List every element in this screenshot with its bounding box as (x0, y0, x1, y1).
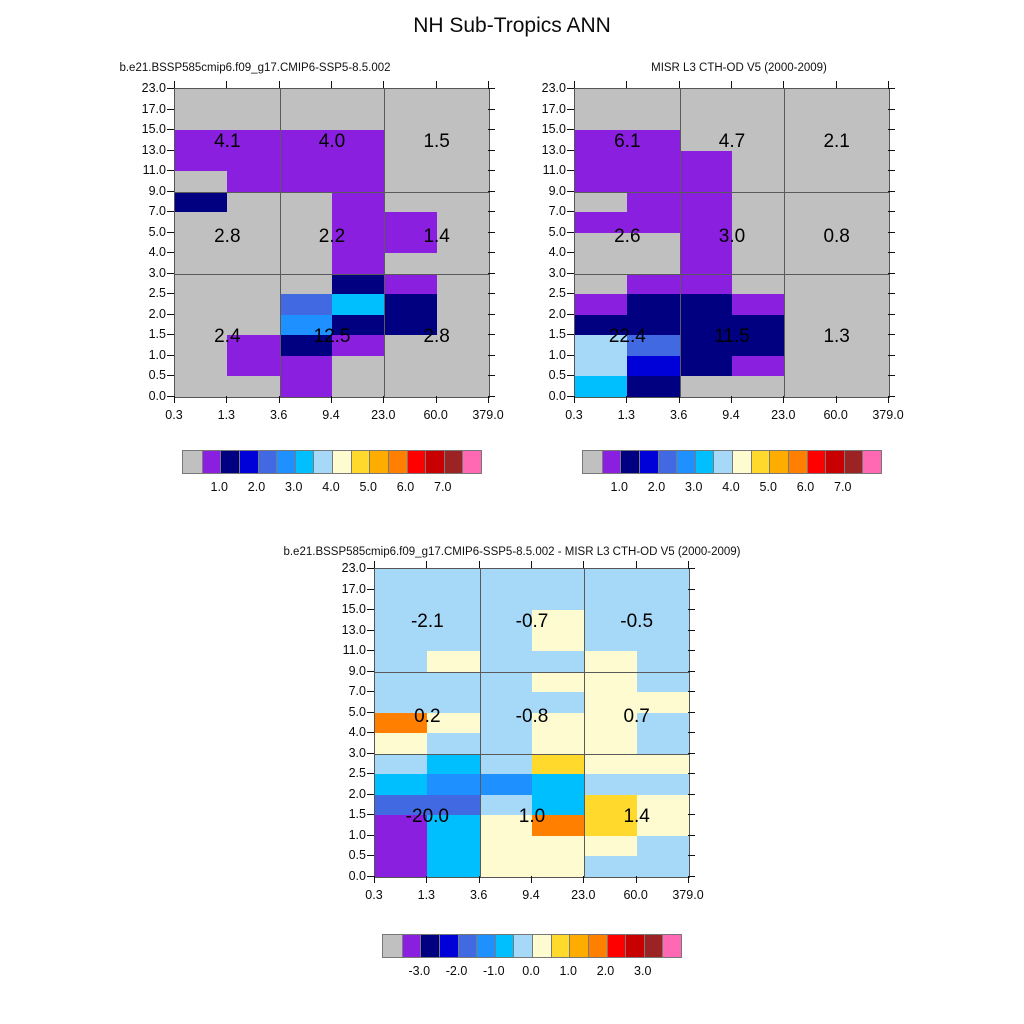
heatmap-cell (837, 89, 890, 110)
heatmap-cell (575, 376, 628, 397)
y-axis-tick (367, 609, 374, 610)
heatmap-cell (784, 274, 837, 295)
y-axis-tick-label: 23.0 (522, 81, 566, 95)
heatmap-cell (637, 733, 690, 754)
colorbar-swatch (644, 935, 663, 957)
region-divider-vertical (280, 89, 281, 397)
y-axis-tick-label: 11.0 (322, 643, 366, 657)
heatmap-cell (375, 856, 428, 877)
heatmap-cell (332, 294, 385, 315)
y-axis-tick-right (688, 732, 695, 733)
colorbar-swatch (183, 451, 202, 473)
heatmap-cell (784, 356, 837, 377)
colorbar-divider (202, 451, 203, 473)
heatmap-cell (532, 631, 585, 652)
y-axis-tick-label: 3.0 (522, 266, 566, 280)
region-divider-horizontal (575, 274, 889, 275)
heatmap-cell (384, 253, 437, 274)
colorbar-model (182, 450, 482, 474)
heatmap-cell (332, 171, 385, 192)
heatmap-cell (437, 89, 490, 110)
colorbar-tick-label: 7.0 (434, 480, 451, 494)
heatmap-cell (427, 774, 480, 795)
y-axis-tick (567, 334, 574, 335)
y-axis-tick (367, 568, 374, 569)
y-axis-tick-right (888, 334, 895, 335)
region-value-label: 2.8 (423, 326, 449, 348)
heatmap-cell (732, 274, 785, 295)
heatmap-cell (732, 89, 785, 110)
heatmap-cell (427, 631, 480, 652)
x-axis-tick (531, 876, 532, 883)
region-value-label: 0.2 (414, 706, 440, 728)
heatmap-cell (584, 856, 637, 877)
heatmap-cell (680, 274, 733, 295)
y-axis-tick-label: 1.0 (522, 348, 566, 362)
y-axis-tick (367, 835, 374, 836)
x-axis-tick-top (226, 81, 227, 88)
y-axis-tick (567, 252, 574, 253)
colorbar-divider (513, 935, 514, 957)
y-axis-tick-right (488, 211, 495, 212)
region-divider-vertical (384, 89, 385, 397)
heatmap-cell (732, 356, 785, 377)
heatmap-cell (427, 754, 480, 775)
heatmap-cell (480, 672, 533, 693)
y-axis-tick-right (688, 671, 695, 672)
y-axis-tick (167, 314, 174, 315)
heatmap-cell (437, 294, 490, 315)
heatmap-cell (837, 151, 890, 172)
colorbar-swatch (407, 451, 426, 473)
x-axis-tick-label: 3.6 (470, 888, 487, 902)
colorbar-divider (862, 451, 863, 473)
y-axis-tick-right (488, 355, 495, 356)
heatmap-cell (837, 376, 890, 397)
colorbar-swatch (713, 451, 732, 473)
y-axis-tick-label: 23.0 (322, 561, 366, 575)
colorbar-divider (332, 451, 333, 473)
colorbar-swatch (769, 451, 788, 473)
heatmap-cell (384, 274, 437, 295)
heatmap-cell (227, 294, 280, 315)
heatmap-cell (427, 569, 480, 590)
heatmap-cell (584, 631, 637, 652)
y-axis-tick-right (688, 773, 695, 774)
x-axis-tick-label: 379.0 (472, 408, 503, 422)
x-axis-tick (226, 396, 227, 403)
region-value-label: 1.3 (823, 326, 849, 348)
y-axis-tick-label: 0.5 (322, 848, 366, 862)
heatmap-cell (532, 856, 585, 877)
heatmap-cell (480, 631, 533, 652)
x-axis-tick-top (331, 81, 332, 88)
heatmap-cell (480, 856, 533, 877)
y-axis-tick-right (688, 650, 695, 651)
x-axis-tick (374, 876, 375, 883)
heatmap-cell (575, 294, 628, 315)
heatmap-cell (437, 151, 490, 172)
heatmap-cell (480, 569, 533, 590)
heatmap-cell (627, 376, 680, 397)
x-axis-tick (626, 396, 627, 403)
colorbar-divider (602, 451, 603, 473)
heatmap-obs: 6.14.72.12.63.00.822.411.51.3 (574, 88, 890, 398)
colorbar-divider (458, 935, 459, 957)
y-axis-tick-label: 4.0 (522, 245, 566, 259)
colorbar-diff (382, 934, 682, 958)
x-axis-tick (583, 876, 584, 883)
y-axis-tick (567, 293, 574, 294)
y-axis-tick (367, 855, 374, 856)
region-value-label: 2.2 (319, 226, 345, 248)
heatmap-cell (575, 356, 628, 377)
region-value-label: 22.4 (609, 326, 646, 348)
colorbar-tick-label: 0.0 (522, 964, 539, 978)
heatmap-diff: -2.1-0.7-0.50.2-0.80.7-20.01.01.4 (374, 568, 690, 878)
region-value-label: 1.4 (623, 806, 649, 828)
colorbar-tick-label: 4.0 (322, 480, 339, 494)
y-axis-tick (567, 150, 574, 151)
y-axis-tick (167, 273, 174, 274)
region-divider-vertical (784, 89, 785, 397)
heatmap-cell (375, 733, 428, 754)
y-axis-tick-label: 0.0 (122, 389, 166, 403)
heatmap-cell (637, 672, 690, 693)
colorbar-tick-label: 3.0 (285, 480, 302, 494)
colorbar-swatch (444, 451, 463, 473)
heatmap-cell (784, 110, 837, 131)
heatmap-cell (627, 171, 680, 192)
y-axis-tick (167, 88, 174, 89)
y-axis-tick-label: 17.0 (322, 582, 366, 596)
y-axis-tick (167, 355, 174, 356)
heatmap-cell (532, 651, 585, 672)
y-axis-tick-right (688, 855, 695, 856)
colorbar-obs (582, 450, 882, 474)
region-value-label: 4.0 (319, 131, 345, 153)
heatmap-cell (280, 192, 333, 213)
heatmap-cell (227, 274, 280, 295)
x-axis-tick (436, 396, 437, 403)
heatmap-cell (227, 253, 280, 274)
x-axis-tick-label: 60.0 (423, 408, 447, 422)
colorbar-swatch (276, 451, 295, 473)
heatmap-cell (280, 356, 333, 377)
x-axis-tick (636, 876, 637, 883)
region-value-label: 2.1 (823, 131, 849, 153)
colorbar-divider (644, 935, 645, 957)
colorbar-divider (462, 451, 463, 473)
x-axis-tick-label: 3.6 (670, 408, 687, 422)
heatmap-cell (427, 836, 480, 857)
heatmap-cell (784, 151, 837, 172)
heatmap-cell (532, 754, 585, 775)
y-axis-tick (167, 252, 174, 253)
y-axis-tick (167, 293, 174, 294)
colorbar-swatch (583, 451, 602, 473)
heatmap-cell (480, 733, 533, 754)
heatmap-cell (427, 856, 480, 877)
y-axis-tick-right (888, 109, 895, 110)
y-axis-tick (367, 630, 374, 631)
heatmap-cell (175, 253, 228, 274)
heatmap-cell (532, 672, 585, 693)
y-axis-tick (367, 589, 374, 590)
y-axis-tick-right (888, 396, 895, 397)
y-axis-tick-right (688, 691, 695, 692)
colorbar-swatch (625, 935, 644, 957)
y-axis-tick-label: 13.0 (122, 143, 166, 157)
heatmap-cell (680, 151, 733, 172)
heatmap-cell (375, 672, 428, 693)
y-axis-tick (567, 170, 574, 171)
heatmap-cell (627, 356, 680, 377)
y-axis-tick-label: 1.5 (122, 327, 166, 341)
y-axis-tick-right (488, 273, 495, 274)
x-axis-tick-top (488, 81, 489, 88)
heatmap-cell (332, 110, 385, 131)
heatmap-cell (680, 376, 733, 397)
colorbar-swatch (476, 935, 495, 957)
heatmap-cell (637, 856, 690, 877)
heatmap-cell (732, 253, 785, 274)
colorbar-swatch (607, 935, 626, 957)
colorbar-divider (407, 451, 408, 473)
colorbar-swatch (388, 451, 407, 473)
heatmap-cell (427, 733, 480, 754)
region-value-label: 4.7 (719, 131, 745, 153)
x-axis-tick (574, 396, 575, 403)
heatmap-cell (332, 192, 385, 213)
y-axis-tick (567, 396, 574, 397)
y-axis-tick-right (888, 314, 895, 315)
heatmap-cell (280, 151, 333, 172)
y-axis-tick-right (488, 334, 495, 335)
heatmap-cell (627, 294, 680, 315)
region-value-label: 2.8 (214, 226, 240, 248)
heatmap-cell (627, 192, 680, 213)
x-axis-tick-top (531, 561, 532, 568)
region-divider-horizontal (575, 192, 889, 193)
heatmap-cell (480, 651, 533, 672)
y-axis-tick-right (888, 273, 895, 274)
y-axis-tick (167, 334, 174, 335)
y-axis-tick-right (888, 191, 895, 192)
heatmap-cell (375, 651, 428, 672)
y-axis-tick-label: 0.5 (522, 368, 566, 382)
y-axis-tick-right (688, 712, 695, 713)
colorbar-tick-label: -1.0 (483, 964, 505, 978)
y-axis-tick (167, 150, 174, 151)
heatmap-cell (784, 294, 837, 315)
y-axis-tick-right (688, 609, 695, 610)
colorbar-tick-label: -3.0 (408, 964, 430, 978)
colorbar-divider (420, 935, 421, 957)
colorbar-swatch (313, 451, 332, 473)
y-axis-tick-label: 17.0 (522, 102, 566, 116)
x-axis-tick-top (888, 81, 889, 88)
colorbar-tick-label: 5.0 (360, 480, 377, 494)
colorbar-swatch (662, 935, 681, 957)
heatmap-cell (837, 110, 890, 131)
heatmap-cell (427, 590, 480, 611)
heatmap-cell (627, 253, 680, 274)
region-value-label: -2.1 (411, 611, 444, 633)
heatmap-cell (837, 274, 890, 295)
colorbar-divider (732, 451, 733, 473)
x-axis-tick-label: 9.4 (722, 408, 739, 422)
y-axis-tick-right (688, 753, 695, 754)
heatmap-cell (584, 774, 637, 795)
y-axis-tick (367, 753, 374, 754)
x-axis-tick (488, 396, 489, 403)
y-axis-tick (167, 396, 174, 397)
x-axis-tick-top (679, 81, 680, 88)
y-axis-tick-label: 15.0 (522, 122, 566, 136)
heatmap-cell (227, 89, 280, 110)
heatmap-cell (837, 253, 890, 274)
y-axis-tick (367, 814, 374, 815)
heatmap-cell (384, 376, 437, 397)
x-axis-tick (783, 396, 784, 403)
colorbar-tick-label: 1.0 (560, 964, 577, 978)
region-value-label: 4.1 (214, 131, 240, 153)
x-axis-tick-label: 3.6 (270, 408, 287, 422)
y-axis-tick-label: 5.0 (122, 225, 166, 239)
heatmap-cell (175, 171, 228, 192)
heatmap-cell (784, 89, 837, 110)
y-axis-tick (167, 191, 174, 192)
x-axis-tick (836, 396, 837, 403)
heatmap-cell (837, 356, 890, 377)
region-value-label: 11.5 (714, 326, 750, 348)
heatmap-cell (680, 253, 733, 274)
colorbar-divider (402, 935, 403, 957)
colorbar-swatch (462, 451, 481, 473)
colorbar-divider (769, 451, 770, 473)
colorbar-divider (439, 935, 440, 957)
colorbar-swatch (439, 935, 458, 957)
heatmap-cell (575, 192, 628, 213)
heatmap-cell (784, 192, 837, 213)
heatmap-cell (732, 110, 785, 131)
x-axis-tick-label: 60.0 (823, 408, 847, 422)
y-axis-tick (567, 129, 574, 130)
colorbar-divider (788, 451, 789, 473)
y-axis-tick-label: 15.0 (322, 602, 366, 616)
y-axis-tick-label: 11.0 (122, 163, 166, 177)
x-axis-tick-label: 0.3 (165, 408, 182, 422)
region-value-label: 2.6 (614, 226, 640, 248)
x-axis-tick-top (583, 561, 584, 568)
heatmap-cell (437, 376, 490, 397)
colorbar-tick-label: 3.0 (634, 964, 651, 978)
colorbar-swatch (202, 451, 221, 473)
colorbar-swatch (569, 935, 588, 957)
heatmap-cell (627, 89, 680, 110)
colorbar-divider (807, 451, 808, 473)
heatmap-cell (584, 754, 637, 775)
region-divider-horizontal (375, 754, 689, 755)
heatmap-cell (280, 376, 333, 397)
colorbar-swatch (602, 451, 621, 473)
y-axis-tick-right (888, 232, 895, 233)
heatmap-cell (175, 89, 228, 110)
heatmap-cell (732, 192, 785, 213)
y-axis-tick-label: 0.5 (122, 368, 166, 382)
colorbar-tick-label: 2.0 (597, 964, 614, 978)
y-axis-tick-label: 7.0 (322, 684, 366, 698)
colorbar-swatch (383, 935, 402, 957)
colorbar-divider (388, 451, 389, 473)
region-divider-vertical (680, 89, 681, 397)
y-axis-tick (567, 355, 574, 356)
y-axis-tick-right (488, 293, 495, 294)
colorbar-divider (569, 935, 570, 957)
colorbar-tick-label: 2.0 (248, 480, 265, 494)
heatmap-cell (575, 151, 628, 172)
x-axis-tick-label: 9.4 (522, 888, 539, 902)
heatmap-cell (175, 294, 228, 315)
y-axis-tick (367, 691, 374, 692)
colorbar-divider (825, 451, 826, 473)
x-axis-tick (888, 396, 889, 403)
x-axis-tick-top (426, 561, 427, 568)
heatmap-cell (680, 294, 733, 315)
y-axis-tick-label: 9.0 (322, 664, 366, 678)
colorbar-tick-label: 1.0 (611, 480, 628, 494)
heatmap-cell (384, 110, 437, 131)
colorbar-tick-label: 6.0 (397, 480, 414, 494)
y-axis-tick-right (888, 355, 895, 356)
y-axis-tick (167, 109, 174, 110)
x-axis-tick-top (626, 81, 627, 88)
heatmap-cell (584, 672, 637, 693)
colorbar-swatch (620, 451, 639, 473)
heatmap-cell (480, 754, 533, 775)
colorbar-divider (532, 935, 533, 957)
heatmap-cell (637, 569, 690, 590)
heatmap-cell (680, 356, 733, 377)
region-value-label: 12.5 (314, 326, 351, 348)
panel-title-diff: b.e21.BSSP585cmip6.f09_g17.CMIP6-SSP5-8.… (132, 546, 892, 558)
heatmap-cell (280, 294, 333, 315)
heatmap-cell (332, 376, 385, 397)
heatmap-cell (384, 356, 437, 377)
x-axis-tick-top (436, 81, 437, 88)
y-axis-tick (167, 211, 174, 212)
y-axis-tick-right (688, 589, 695, 590)
y-axis-tick-right (488, 150, 495, 151)
heatmap-cell (680, 171, 733, 192)
y-axis-tick-label: 2.5 (122, 286, 166, 300)
x-axis-tick-top (383, 81, 384, 88)
heatmap-cell (637, 836, 690, 857)
heatmap-cell (384, 151, 437, 172)
colorbar-tick-label: 1.0 (211, 480, 228, 494)
y-axis-tick (367, 650, 374, 651)
y-axis-tick-label: 15.0 (122, 122, 166, 136)
y-axis-tick (367, 876, 374, 877)
colorbar-swatch (844, 451, 863, 473)
x-axis-tick-top (174, 81, 175, 88)
heatmap-cell (375, 836, 428, 857)
heatmap-cell (637, 754, 690, 775)
y-axis-tick-label: 1.5 (522, 327, 566, 341)
figure-title: NH Sub-Tropics ANN (0, 14, 1024, 38)
x-axis-tick-label: 9.4 (322, 408, 339, 422)
